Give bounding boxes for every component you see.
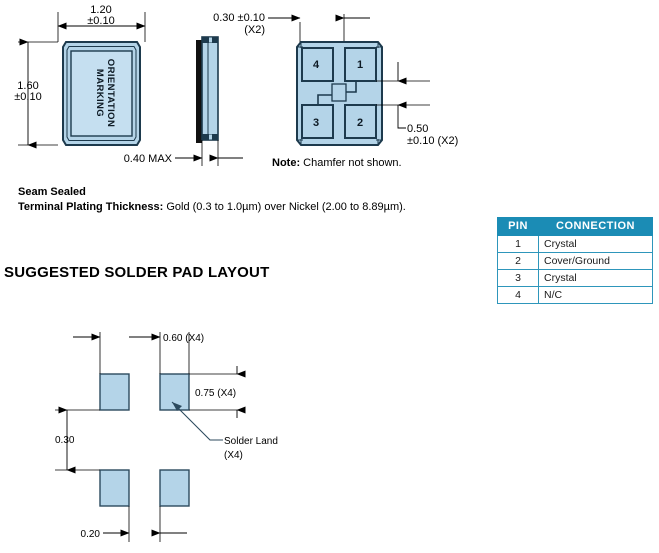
connection-cell-3: Crystal <box>539 270 653 287</box>
solder-pad-layout-drawing: 0.60 (X4) 0.75 (X4) 0.30 0.20 Solder Lan… <box>55 318 415 553</box>
table-header-connection: CONNECTION <box>539 218 653 236</box>
height-dimension-tolerance: ±0.10 <box>14 91 41 103</box>
top-view: 1.20 ±0.10 1.60 ±0.10 MARKING ORIENTATIO… <box>14 4 145 145</box>
pin-label-1: 1 <box>357 59 363 71</box>
pad-gap-dimension-value: 0.50 <box>407 123 428 135</box>
pad-width-dimension-value: 0.30 ±0.10 <box>213 12 265 24</box>
gap-dim-leader <box>398 124 406 128</box>
marking-orientation-line2: ORIENTATION <box>105 59 116 127</box>
pin-connection-table: PIN CONNECTION 1 Crystal 2 Cover/Ground … <box>497 217 653 304</box>
pin-label-2: 2 <box>357 117 363 129</box>
chamfer-note-text: Chamfer not shown. <box>300 157 402 169</box>
seam-sealed-note: Seam Sealed <box>18 185 458 200</box>
plating-label: Terminal Plating Thickness: <box>18 201 163 213</box>
table-header-row: PIN CONNECTION <box>498 218 653 236</box>
pin-cell-3: 3 <box>498 270 539 287</box>
bottom-view: 0.30 ±0.10 (X2) 4 1 3 2 <box>213 12 458 169</box>
side-view: 0.40 MAX <box>124 37 243 166</box>
solder-vertical-gap-dimension: 0.30 <box>55 435 75 446</box>
notes-block: Seam Sealed Terminal Plating Thickness: … <box>18 185 458 215</box>
table-row: 2 Cover/Ground <box>498 253 653 270</box>
connection-cell-1: Crystal <box>539 236 653 253</box>
side-view-cap-top-gap <box>209 38 212 43</box>
center-element <box>332 84 346 101</box>
marking-orientation-line1: MARKING <box>94 69 105 117</box>
table-header-pin: PIN <box>498 218 539 236</box>
solder-pad-section-title: SUGGESTED SOLDER PAD LAYOUT <box>4 264 269 281</box>
pin-cell-2: 2 <box>498 253 539 270</box>
thickness-dimension-value: 0.40 MAX <box>124 153 173 165</box>
solder-pad-height-dimension: 0.75 (X4) <box>195 388 236 399</box>
pad-width-dimension-qty: (X2) <box>244 24 265 36</box>
plating-text: Gold (0.3 to 1.0µm) over Nickel (2.00 to… <box>163 201 406 213</box>
seam-sealed-label: Seam Sealed <box>18 186 86 198</box>
connection-cell-2: Cover/Ground <box>539 253 653 270</box>
table-row: 3 Crystal <box>498 270 653 287</box>
solder-pad-width-dimension: 0.60 (X4) <box>163 333 204 344</box>
chamfer-note-label: Note: <box>272 157 300 169</box>
solder-land-bottom-left <box>100 470 129 506</box>
width-dimension-tolerance: ±0.10 <box>87 15 114 27</box>
solder-horizontal-gap-dimension: 0.20 <box>81 529 101 540</box>
table-row: 1 Crystal <box>498 236 653 253</box>
connection-cell-4: N/C <box>539 287 653 304</box>
side-view-shadow <box>196 40 202 143</box>
side-view-body <box>202 37 218 140</box>
table-row: 4 N/C <box>498 287 653 304</box>
pin-cell-1: 1 <box>498 236 539 253</box>
chamfer-note: Note: Chamfer not shown. <box>272 157 402 169</box>
pin-label-3: 3 <box>313 117 319 129</box>
pin-label-4: 4 <box>313 59 320 71</box>
solder-land-label-line1: Solder Land <box>224 436 278 447</box>
solder-land-bottom-right <box>160 470 189 506</box>
solder-land-top-left <box>100 374 129 410</box>
pad-gap-dimension-tolerance: ±0.10 (X2) <box>407 135 458 147</box>
solder-land-label-line2: (X4) <box>224 450 243 461</box>
package-drawings: 1.20 ±0.10 1.60 ±0.10 MARKING ORIENTATIO… <box>0 0 500 185</box>
plating-note: Terminal Plating Thickness: Gold (0.3 to… <box>18 200 458 215</box>
datasheet-page: 1.20 ±0.10 1.60 ±0.10 MARKING ORIENTATIO… <box>0 0 659 552</box>
pin-cell-4: 4 <box>498 287 539 304</box>
side-view-cap-bottom-gap <box>209 135 212 140</box>
